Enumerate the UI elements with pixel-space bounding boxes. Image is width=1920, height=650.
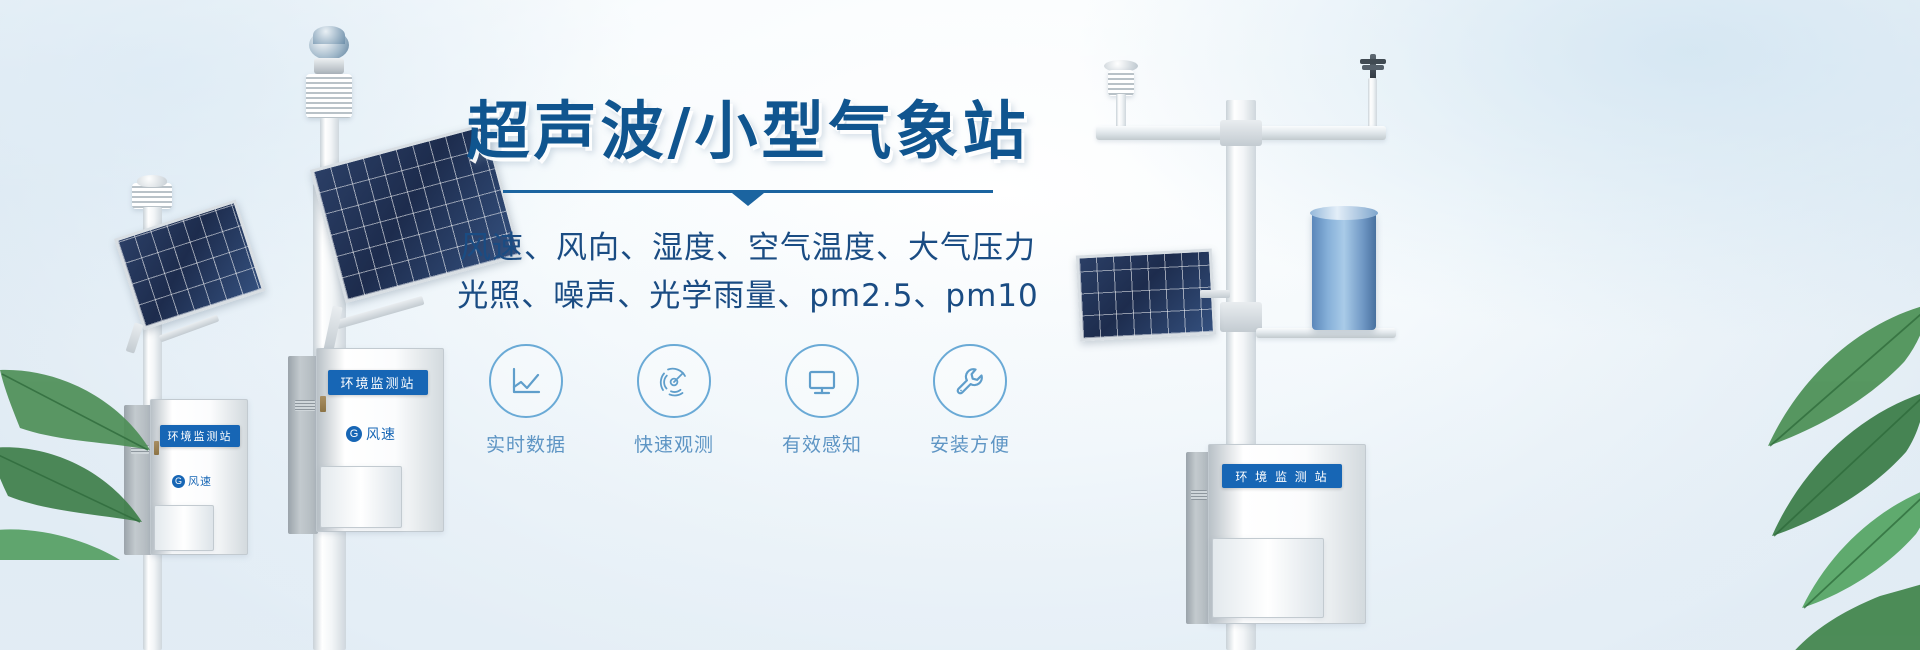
- cabinet-lower-door: [320, 466, 402, 528]
- solar-panel: [1076, 249, 1216, 342]
- brand-logo: G 风速: [346, 424, 396, 444]
- subtitle-line-2: 光照、噪声、光学雨量、pm2.5、pm10: [448, 272, 1048, 320]
- page-title: 超声波/小型气象站: [448, 96, 1048, 168]
- station-sign: 环境监测站: [328, 370, 428, 395]
- mast-collar-mid: [1220, 302, 1262, 332]
- optical-rain-gauge: [1312, 212, 1376, 330]
- cabinet-lower-door: [1212, 538, 1324, 618]
- title-divider: [503, 190, 993, 208]
- weather-station-right: 环 境 监 测 站: [1060, 40, 1460, 650]
- product-banner: 环境监测站 G 风速 环境监测站 G 风速: [0, 0, 1920, 650]
- cabinet-vent: [295, 400, 315, 411]
- radiation-shield-stack: [306, 74, 352, 118]
- station-sign: 环 境 监 测 站: [1222, 464, 1342, 488]
- feature-label: 快速观测: [619, 430, 729, 457]
- anemometer-shield: [1108, 70, 1134, 96]
- solar-panel: [114, 199, 265, 330]
- cabinet-vent: [1191, 490, 1207, 500]
- line-chart-icon: [506, 361, 546, 401]
- cabinet-side-panel: [1186, 452, 1210, 624]
- feature-icon-circle: [637, 344, 711, 418]
- feature-item-effective-sensing[interactable]: 有效感知: [767, 344, 877, 457]
- feature-icon-circle: [489, 344, 563, 418]
- cabinet-side-panel: [288, 356, 318, 534]
- mast-collar-top: [1220, 120, 1262, 146]
- banner-content: 超声波/小型气象站 风速、风向、湿度、空气温度、大气压力 光照、噪声、光学雨量、…: [448, 96, 1048, 457]
- feature-label: 实时数据: [471, 430, 581, 457]
- sensor-cap-icon: [137, 175, 167, 187]
- subtitle-line-1: 风速、风向、湿度、空气温度、大气压力: [448, 224, 1048, 272]
- feature-label: 安装方便: [915, 430, 1025, 457]
- feature-label: 有效感知: [767, 430, 877, 457]
- feature-icon-circle: [933, 344, 1007, 418]
- sensor-dome-icon: [313, 26, 345, 44]
- feature-item-easy-install[interactable]: 安装方便: [915, 344, 1025, 457]
- wrench-icon: [950, 361, 990, 401]
- feature-item-fast-observation[interactable]: 快速观测: [619, 344, 729, 457]
- brand-mark-icon: G: [346, 426, 362, 442]
- feature-item-realtime-data[interactable]: 实时数据: [471, 344, 581, 457]
- feature-list: 实时数据 快速观测: [448, 344, 1048, 457]
- cabinet-latch: [320, 396, 326, 412]
- feature-icon-circle: [785, 344, 859, 418]
- banner-subtitle: 风速、风向、湿度、空气温度、大气压力 光照、噪声、光学雨量、pm2.5、pm10: [448, 224, 1048, 320]
- radar-scan-icon: [654, 361, 694, 401]
- rain-gauge-rim: [1310, 206, 1378, 220]
- brand-name: 风速: [366, 424, 396, 444]
- triangle-down-icon: [732, 193, 764, 206]
- wind-vane-icon: [1360, 54, 1386, 80]
- solar-panel-bracket: [1200, 290, 1230, 298]
- leaf-decoration-left: [0, 330, 200, 560]
- ultrasonic-body: [314, 58, 344, 74]
- wind-vane-post: [1368, 78, 1377, 130]
- leaf-decoration-right: [1690, 296, 1920, 650]
- monitor-icon: [802, 361, 842, 401]
